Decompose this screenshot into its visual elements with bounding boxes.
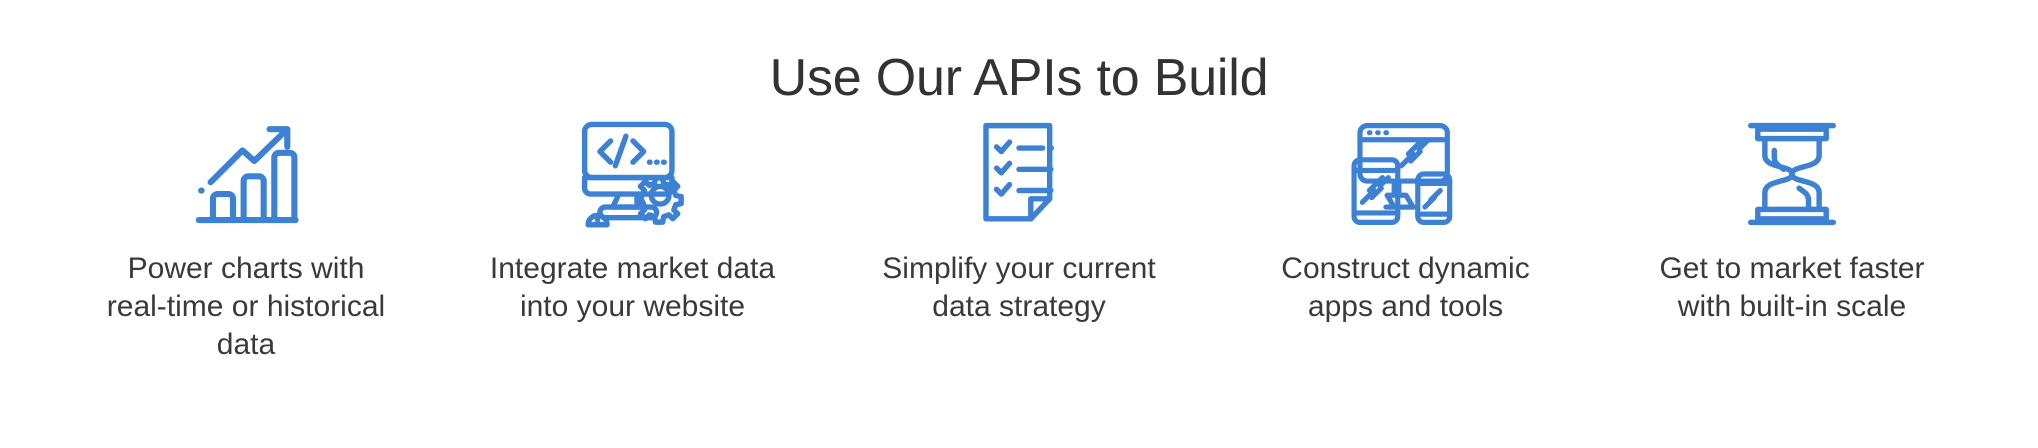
bar-chart-growth-icon [184, 112, 308, 236]
checklist-document-icon [957, 112, 1081, 236]
page-title: Use Our APIs to Build [0, 47, 2038, 109]
feature-caption: Integrate market data into your website [468, 250, 798, 326]
feature-caption: Construct dynamic apps and tools [1261, 250, 1551, 326]
feature-caption: Simplify your current data strategy [869, 250, 1169, 326]
monitor-code-gear-icon [571, 112, 695, 236]
feature-item-power-charts[interactable]: Power charts with real-time or historica… [60, 112, 432, 364]
feature-item-market-faster[interactable]: Get to market faster with built-in scale [1606, 112, 1978, 326]
feature-item-construct-apps[interactable]: Construct dynamic apps and tools [1220, 112, 1592, 326]
feature-item-integrate-market-data[interactable]: Integrate market data into your website [447, 112, 819, 326]
api-features-section: Use Our APIs to Build [0, 0, 2038, 448]
feature-caption: Get to market faster with built-in scale [1642, 250, 1942, 326]
feature-caption: Power charts with real-time or historica… [101, 250, 391, 364]
feature-list: Power charts with real-time or historica… [60, 112, 1978, 364]
feature-item-simplify-strategy[interactable]: Simplify your current data strategy [833, 112, 1205, 326]
responsive-devices-icon [1344, 112, 1468, 236]
hourglass-icon [1730, 112, 1854, 236]
